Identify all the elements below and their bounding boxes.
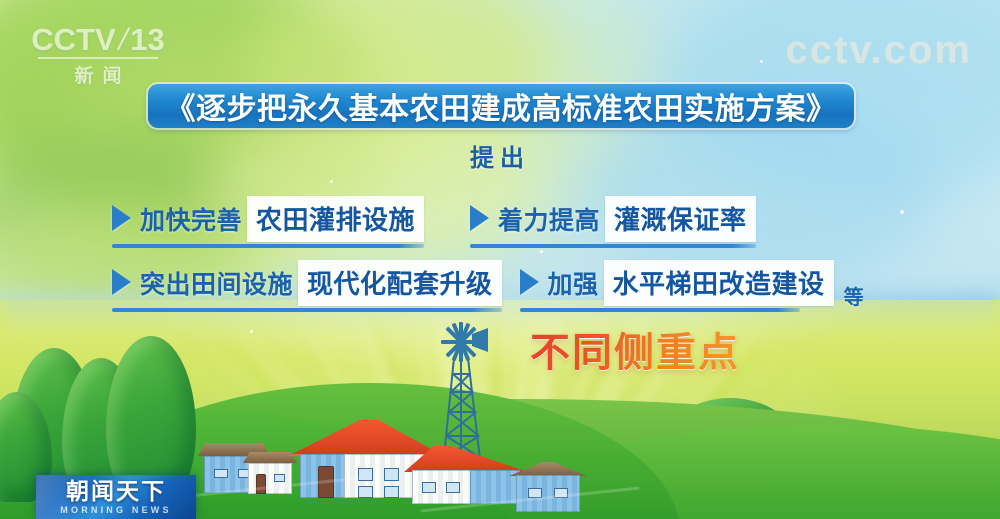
points-row-1: 加快完善 农田灌排设施 着力提高 灌溉保证率 [112,196,756,248]
point-lead: 加快完善 [140,201,242,237]
sparkle [250,330,253,333]
triangle-arrow-icon [470,205,489,231]
point-lead: 突出田间设施 [140,265,293,301]
point-underline [112,308,502,312]
callout-text: 不同侧重点 [530,320,740,378]
point-item-2: 突出田间设施 现代化配套升级 [112,260,502,312]
sparkle [760,60,763,63]
triangle-arrow-icon [112,269,131,295]
point-underline [470,244,756,248]
point-item-3: 加强 水平梯田改造建设 [520,260,834,312]
house-far-right [516,462,580,512]
point-highlight: 灌溉保证率 [605,196,756,242]
sparkle [900,210,904,214]
point-tail: 等 [844,281,864,310]
point-highlight: 水平梯田改造建设 [604,260,834,306]
triangle-arrow-icon [520,269,539,295]
point-underline [112,244,424,248]
document-title-bar: 《逐步把永久基本农田建成高标准农田实施方案》 [148,84,854,128]
program-banner: 朝闻天下 MORNING NEWS [36,475,196,519]
point-lead: 加强 [548,265,599,301]
triangle-arrow-icon [112,205,131,231]
sparkle [540,250,543,253]
point-underline [520,308,800,312]
page-title: 《逐步把永久基本农田建成高标准农田实施方案》 [166,84,837,128]
point-item-1: 着力提高 灌溉保证率 [470,196,756,248]
subtitle-label: 提出 [0,138,1000,173]
house-right-mid [412,446,520,504]
sparkle [330,180,333,183]
point-highlight: 现代化配套升级 [298,260,502,306]
point-highlight: 农田灌排设施 [247,196,424,242]
point-item-0: 加快完善 农田灌排设施 [112,196,424,248]
points-row-2: 突出田间设施 现代化配套升级 加强 水平梯田改造建设 等 [112,260,864,312]
point-lead: 着力提高 [498,201,600,237]
